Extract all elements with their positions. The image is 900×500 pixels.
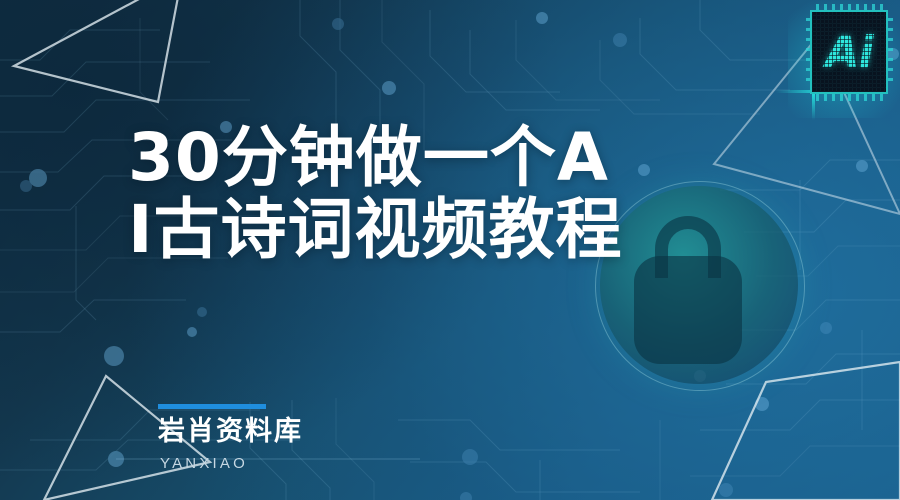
brand-block: 岩肖资料库 YANXIAO [158, 404, 303, 472]
headline-line-1: 30分钟做一个A [128, 122, 828, 194]
triangle-top-left [14, 0, 182, 102]
page-title: 30分钟做一个A I古诗词视频教程 [128, 122, 828, 266]
ai-chip-icon: Ai [806, 4, 894, 108]
brand-subtitle: YANXIAO [160, 455, 303, 472]
headline-line-2: I古诗词视频教程 [128, 194, 828, 266]
brand-name: 岩肖资料库 [158, 416, 303, 448]
chip-ai-label: Ai [812, 12, 886, 92]
padlock-icon-body [634, 256, 742, 364]
chip-body: Ai [810, 10, 888, 94]
poster-canvas: Ai 30分钟做一个A I古诗词视频教程 岩肖资料库 YANXIAO [0, 0, 900, 500]
brand-accent-rule [158, 404, 266, 409]
